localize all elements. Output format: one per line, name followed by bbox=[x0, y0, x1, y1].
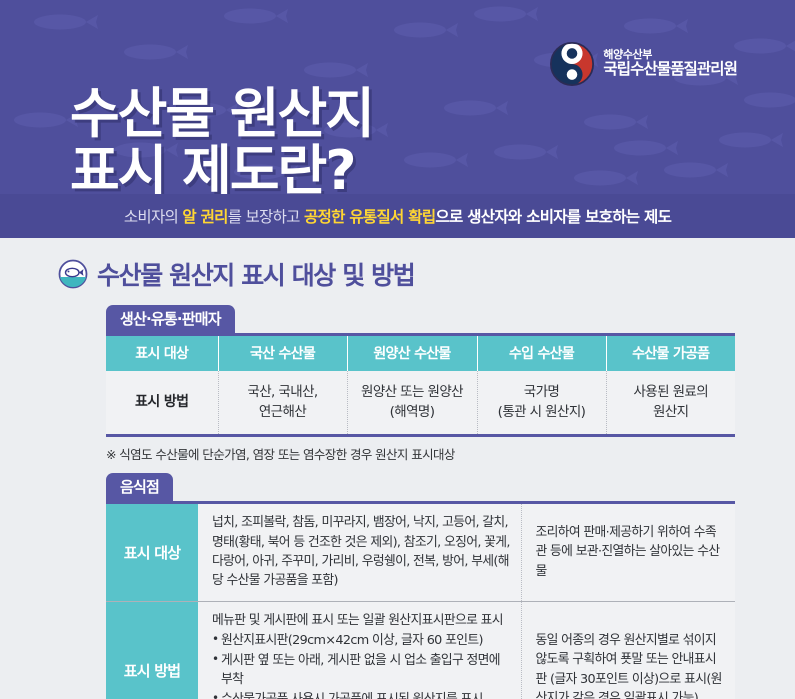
restaurant-group-tab: 음식점 bbox=[106, 473, 173, 501]
restaurant-row0-label: 표시 대상 bbox=[106, 503, 198, 601]
subtitle-highlight1: 알 권리 bbox=[182, 208, 227, 226]
producer-header-0: 표시 대상 bbox=[106, 335, 218, 372]
hero-title-line1: 수산물 원산지 bbox=[70, 82, 373, 145]
fish-circle-icon bbox=[58, 259, 88, 289]
producer-table-note: ※ 식염도 수산물에 단순가염, 염장 또는 염수장한 경우 원산지 표시대상 bbox=[106, 444, 737, 463]
producer-cell-3: 사용된 원료의 원산지 bbox=[606, 371, 735, 436]
producer-table-row: 표시 방법 국산, 국내산, 연근해산 원양산 또는 원양산 (해역명) 국가명… bbox=[106, 371, 735, 436]
restaurant-row1-side: 동일 어종의 경우 원산지별로 섞이지 않도록 구획하여 푯말 또는 안내표시판… bbox=[521, 602, 735, 699]
producer-header-3: 수입 수산물 bbox=[477, 335, 606, 372]
restaurant-row1-bullet-list: 원산지표시판(29cm×42cm 이상, 글자 60 포인트) 게시판 옆 또는… bbox=[212, 631, 511, 699]
producer-distributor-seller-group: 생산·유통·판매자 표시 대상 국산 수산물 원양산 수산물 수입 수산물 수산… bbox=[106, 305, 737, 463]
agency-logo: 해양수산부 국립수산물품질관리원 bbox=[550, 42, 737, 86]
subtitle-highlight2: 공정한 유통질서 확립 bbox=[304, 208, 435, 226]
infographic-page: 수산물 원산지 표시 제도란? 해양수산부 국립수산물품질관리원 bbox=[0, 0, 795, 699]
subtitle-part3: 으로 생산자와 소비자를 보호하는 제도 bbox=[435, 208, 671, 226]
subtitle-text: 소비자의 알 권리를 보장하고 공정한 유통질서 확립으로 생산자와 소비자를 … bbox=[124, 205, 671, 227]
restaurant-row1-bullet-0: 원산지표시판(29cm×42cm 이상, 글자 60 포인트) bbox=[212, 631, 511, 650]
producer-cell-1: 원양산 또는 원양산 (해역명) bbox=[347, 371, 477, 436]
page-title: 수산물 원산지 표시 제도란? bbox=[70, 28, 373, 194]
subtitle-bar: 소비자의 알 권리를 보장하고 공정한 유통질서 확립으로 생산자와 소비자를 … bbox=[0, 194, 795, 238]
restaurant-row1-lead: 메뉴판 및 게시판에 표시 또는 일괄 원산지표시판으로 표시 bbox=[212, 611, 511, 630]
producer-table: 표시 대상 국산 수산물 원양산 수산물 수입 수산물 수산물 가공품 표시 방… bbox=[106, 333, 735, 437]
producer-row-label: 표시 방법 bbox=[106, 371, 218, 436]
restaurant-row1-bullet-2: 수산물가공품 사용시 가공품에 표시된 원산지를 표시 bbox=[212, 690, 511, 699]
content-area: 수산물 원산지 표시 대상 및 방법 생산·유통·판매자 표시 대상 국산 수산… bbox=[0, 238, 795, 699]
producer-cell-0: 국산, 국내산, 연근해산 bbox=[218, 371, 347, 436]
header-banner: 수산물 원산지 표시 제도란? 해양수산부 국립수산물품질관리원 bbox=[0, 0, 795, 194]
subtitle-part2: 를 보장하고 bbox=[228, 208, 304, 226]
taeguk-icon bbox=[550, 42, 594, 86]
subtitle-part1: 소비자의 bbox=[124, 208, 182, 226]
hero-title-line2: 표시 제도란? bbox=[70, 142, 373, 194]
restaurant-group: 음식점 표시 대상 넙치, 조피볼락, 참돔, 미꾸라지, 뱀장어, 낙지, 고… bbox=[106, 473, 737, 699]
section-header: 수산물 원산지 표시 대상 및 방법 bbox=[58, 256, 737, 292]
producer-header-1: 국산 수산물 bbox=[218, 335, 347, 372]
restaurant-row1-label: 표시 방법 bbox=[106, 602, 198, 699]
producer-cell-2: 국가명 (통관 시 원산지) bbox=[477, 371, 606, 436]
restaurant-row1-bullet-1: 게시판 옆 또는 아래, 게시판 없을 시 업소 출입구 정면에 부착 bbox=[212, 651, 511, 690]
producer-group-tab: 생산·유통·판매자 bbox=[106, 305, 235, 333]
restaurant-row0-side: 조리하여 판매·제공하기 위하여 수족관 등에 보관·진열하는 살아있는 수산물 bbox=[521, 503, 735, 601]
producer-header-4: 수산물 가공품 bbox=[606, 335, 735, 372]
restaurant-row1-main: 메뉴판 및 게시판에 표시 또는 일괄 원산지표시판으로 표시 원산지표시판(2… bbox=[198, 602, 521, 699]
producer-table-header-row: 표시 대상 국산 수산물 원양산 수산물 수입 수산물 수산물 가공품 bbox=[106, 335, 735, 372]
section-title: 수산물 원산지 표시 대상 및 방법 bbox=[97, 256, 414, 292]
restaurant-table: 표시 대상 넙치, 조피볼락, 참돔, 미꾸라지, 뱀장어, 낙지, 고등어, … bbox=[106, 501, 735, 699]
restaurant-row-method: 표시 방법 메뉴판 및 게시판에 표시 또는 일괄 원산지표시판으로 표시 원산… bbox=[106, 602, 735, 699]
restaurant-row0-main: 넙치, 조피볼락, 참돔, 미꾸라지, 뱀장어, 낙지, 고등어, 갈치, 명태… bbox=[198, 503, 521, 601]
restaurant-row-target: 표시 대상 넙치, 조피볼락, 참돔, 미꾸라지, 뱀장어, 낙지, 고등어, … bbox=[106, 503, 735, 601]
logo-agency-name: 국립수산물품질관리원 bbox=[603, 61, 737, 78]
producer-header-2: 원양산 수산물 bbox=[347, 335, 477, 372]
